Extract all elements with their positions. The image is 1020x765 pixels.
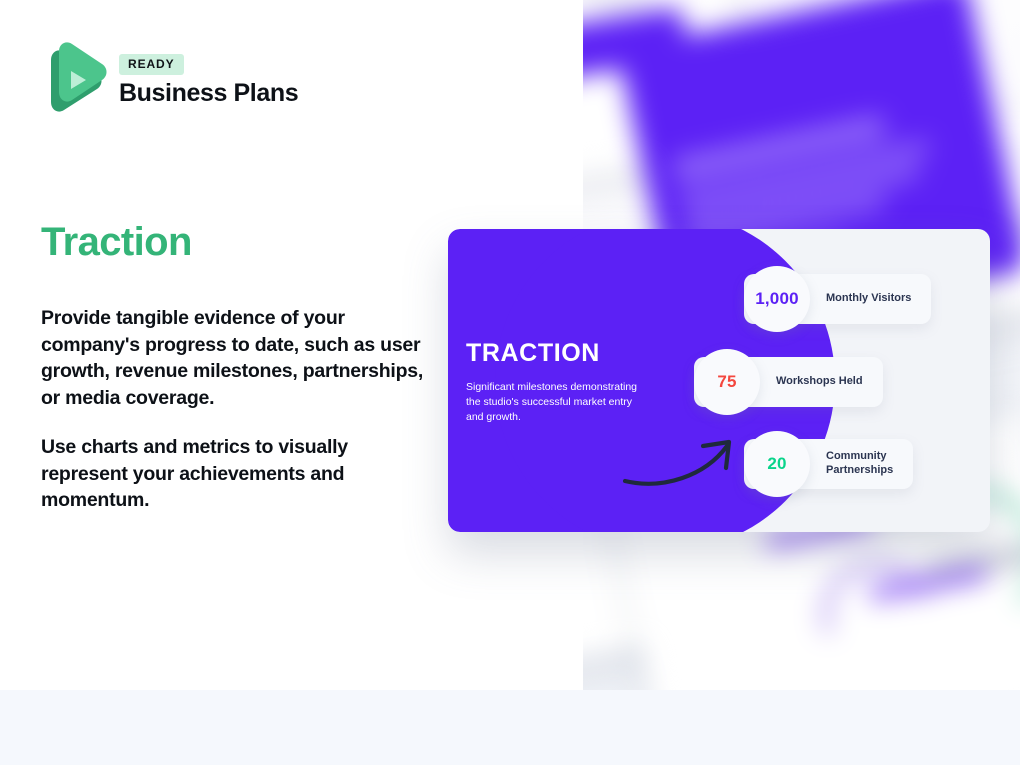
curved-arrow-icon xyxy=(623,424,753,494)
metric-label: Community Partnerships xyxy=(826,450,893,478)
metric-label: Monthly Visitors xyxy=(826,292,911,306)
body-paragraph-2: Use charts and metrics to visually repre… xyxy=(41,434,431,514)
body-paragraph-1: Provide tangible evidence of your compan… xyxy=(41,305,431,412)
metric-value-circle: 75 xyxy=(694,349,760,415)
metric-value-circle: 20 xyxy=(744,431,810,497)
brand-text: READY Business Plans xyxy=(119,50,298,108)
traction-slide-card: TRACTION Significant milestones demonstr… xyxy=(448,229,990,532)
metric-row: 1,000 Monthly Visitors xyxy=(744,270,931,328)
metric-value: 1,000 xyxy=(755,289,799,309)
metric-row: 75 Workshops Held xyxy=(694,353,883,411)
page-title: Traction xyxy=(41,220,192,265)
slide-title: TRACTION xyxy=(466,341,666,366)
metric-value: 20 xyxy=(767,454,786,474)
metric-label: Workshops Held xyxy=(776,375,863,389)
metric-value-circle: 1,000 xyxy=(744,266,810,332)
slide-subtitle: Significant milestones demonstrating the… xyxy=(466,380,652,426)
brand-name: Business Plans xyxy=(119,79,298,108)
play-triangle-logo-icon xyxy=(41,40,107,118)
bottom-strip xyxy=(0,690,1020,765)
brand-logo-block: READY Business Plans xyxy=(41,40,298,118)
metric-row: 20 Community Partnerships xyxy=(744,435,913,493)
ready-badge: READY xyxy=(119,54,184,75)
metric-value: 75 xyxy=(717,372,736,392)
purple-panel-content: TRACTION Significant milestones demonstr… xyxy=(466,341,666,426)
body-copy: Provide tangible evidence of your compan… xyxy=(41,305,431,514)
slide-preview-page: TRACTION Significant milestones demonstr… xyxy=(0,0,1020,765)
